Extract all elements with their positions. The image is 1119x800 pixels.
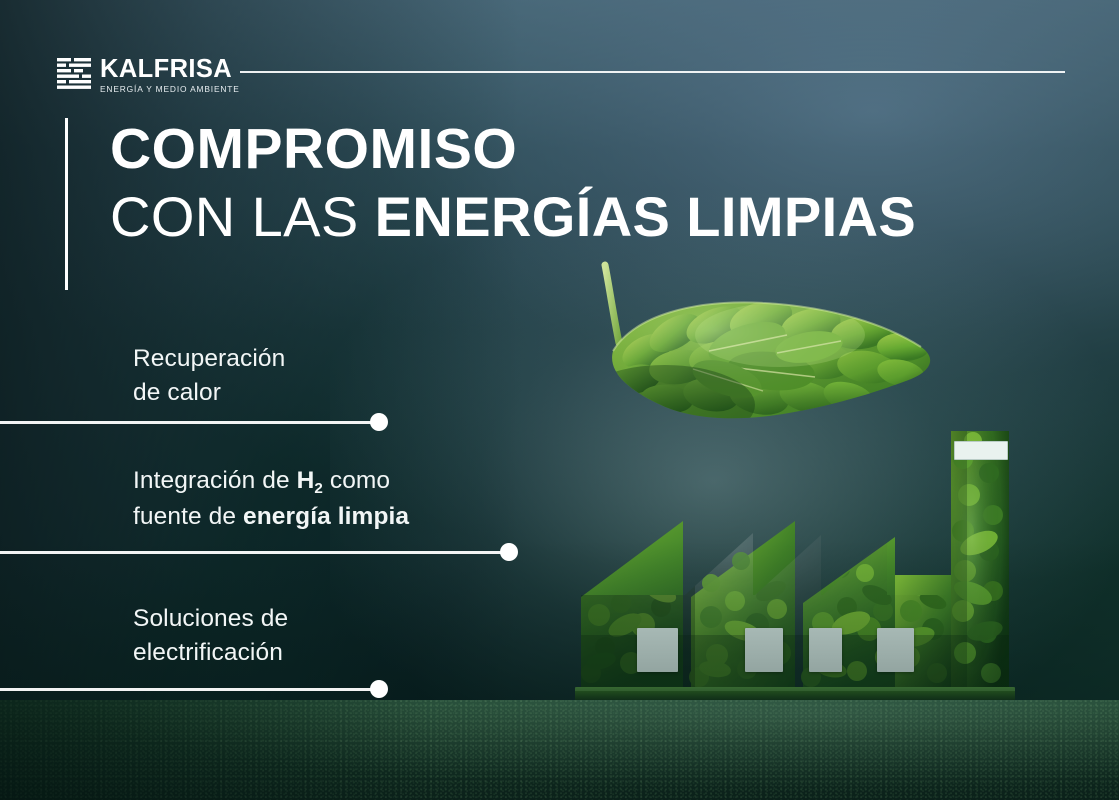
page-title: COMPROMISO CON LAS ENERGÍAS LIMPIAS	[110, 122, 1010, 245]
feature-endpoint-dot[interactable]	[370, 680, 388, 698]
brand-tagline: ENERGÍA Y MEDIO AMBIENTE	[100, 84, 240, 95]
feature-line-1: Recuperación	[133, 345, 285, 372]
feature-line-2: electrificación	[133, 639, 283, 666]
feature-h2-subscript: 2	[314, 480, 323, 497]
feature-line-1: Soluciones de	[133, 605, 288, 632]
title-line-2-bold: ENERGÍAS LIMPIAS	[375, 185, 917, 248]
factory-icon	[565, 425, 1025, 725]
brand-logo[interactable]: KALFRISA ENERGÍA Y MEDIO AMBIENTE	[57, 56, 240, 95]
feature-line-2-b: energía limpia	[243, 503, 409, 530]
brand-name: KALFRISA	[100, 56, 240, 82]
logo-wordmark: KALFRISA ENERGÍA Y MEDIO AMBIENTE	[100, 56, 240, 95]
factory-window	[809, 628, 842, 672]
feature-line-1-a: Integración de	[133, 467, 297, 494]
chimney-band	[954, 441, 1008, 460]
feature-endpoint-dot[interactable]	[500, 543, 518, 561]
factory-window	[637, 628, 678, 672]
title-line-2: CON LAS ENERGÍAS LIMPIAS	[110, 190, 1010, 245]
poster-canvas: KALFRISA ENERGÍA Y MEDIO AMBIENTE COMPRO…	[0, 0, 1119, 800]
kalfrisa-bars-logo-icon	[57, 58, 91, 89]
feature-h2-symbol: H	[297, 467, 315, 494]
grass-ground	[0, 700, 1119, 800]
title-accent-bar	[65, 118, 68, 290]
feature-label: Soluciones de electrificación	[133, 602, 288, 670]
feature-label: Recuperación de calor	[133, 342, 285, 410]
feature-connector-line	[0, 421, 378, 424]
header-divider	[240, 71, 1065, 73]
leaf-icon	[575, 255, 975, 445]
background-center-glow	[330, 190, 1119, 750]
title-line-1: COMPROMISO	[110, 122, 1010, 178]
feature-connector-line	[0, 688, 378, 691]
feature-endpoint-dot[interactable]	[370, 413, 388, 431]
feature-connector-line	[0, 551, 509, 554]
factory-window	[877, 628, 914, 672]
composite-leaf-illustration	[575, 255, 975, 445]
green-factory-illustration	[565, 425, 1025, 725]
feature-line-2: de calor	[133, 379, 221, 406]
feature-label: Integración de H2 como fuente de energía…	[133, 464, 409, 534]
feature-line-2-a: fuente de	[133, 503, 243, 530]
factory-window	[745, 628, 783, 672]
feature-line-1-c: como	[323, 467, 390, 494]
title-line-2-thin: CON LAS	[110, 185, 375, 248]
